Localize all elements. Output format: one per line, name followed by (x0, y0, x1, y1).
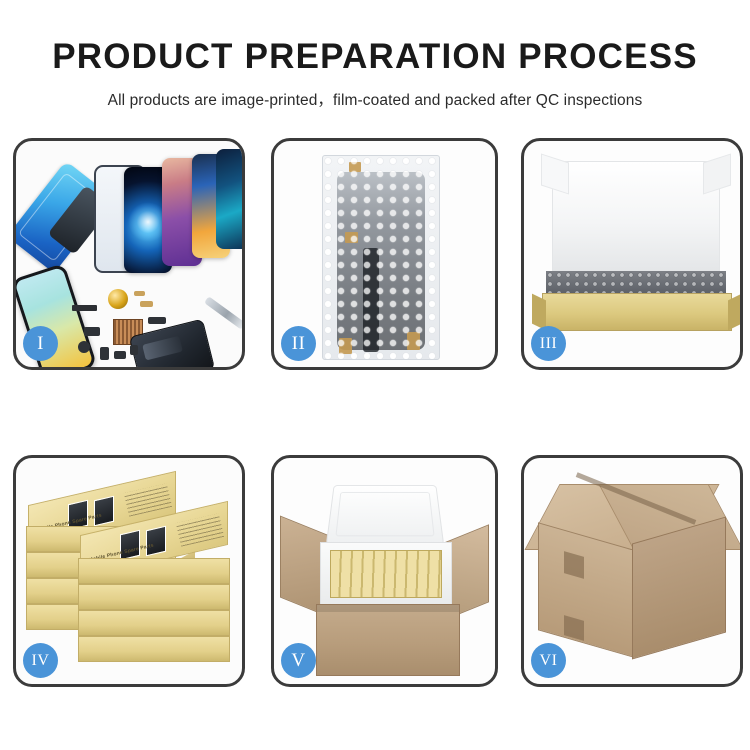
screen-graphic-icon (146, 526, 166, 557)
page-subtitle: All products are image-printed，film-coat… (0, 88, 750, 110)
screwdriver-icon (204, 296, 242, 330)
white-foam-lid-icon (552, 161, 720, 273)
small-part-icon (140, 301, 153, 307)
small-part-icon (84, 327, 100, 336)
step-panel-5[interactable]: V (271, 455, 498, 687)
step-badge-3: III (531, 326, 566, 361)
step-badge-2: II (281, 326, 316, 361)
process-row-2: Mobile Phone Spare Parts Mobile Phone Sp… (0, 455, 750, 687)
list-item (78, 610, 230, 636)
header: PRODUCT PREPARATION PROCESS All products… (0, 38, 750, 110)
process-grid: I II (0, 138, 750, 687)
step-panel-4[interactable]: Mobile Phone Spare Parts Mobile Phone Sp… (13, 455, 245, 687)
foam-insert-lid-icon (326, 485, 444, 545)
small-part-icon (100, 347, 109, 360)
product-preparation-infographic: PRODUCT PREPARATION PROCESS All products… (0, 0, 750, 750)
step-panel-2[interactable]: II (271, 138, 498, 370)
small-part-icon (114, 351, 126, 359)
open-carton-icon (316, 604, 460, 676)
step-badge-4: IV (23, 643, 58, 678)
step-badge-1: I (23, 326, 58, 361)
bubble-wrap-layer-icon (546, 271, 726, 295)
screen-graphic-icon (120, 530, 140, 561)
list-item (78, 636, 230, 662)
speaker-bar-icon (72, 305, 97, 311)
small-part-icon (148, 317, 166, 324)
process-row-1: I II (0, 138, 750, 370)
list-item (78, 558, 230, 584)
step-badge-5: V (281, 643, 316, 678)
page-title: PRODUCT PREPARATION PROCESS (0, 38, 750, 77)
bubble-wrap-bag-icon (322, 155, 440, 360)
step-panel-1[interactable]: I (13, 138, 245, 370)
list-item (78, 584, 230, 610)
kraft-tray-icon (542, 293, 732, 331)
step-panel-6[interactable]: VI (521, 455, 743, 687)
screen-graphic-icon (94, 496, 114, 527)
step-panel-3[interactable]: III (521, 138, 743, 370)
teal-gradient-phone-icon (216, 149, 242, 249)
small-part-icon (134, 291, 145, 296)
yellow-boxes-icon (330, 550, 442, 598)
step-badge-6: VI (531, 643, 566, 678)
bubble-texture-overlay (323, 156, 439, 359)
camera-lens-icon (108, 289, 128, 309)
yellow-box-stack-icon: Mobile Phone Spare Parts Mobile Phone Sp… (22, 474, 242, 674)
small-part-icon (78, 341, 90, 353)
small-part-icon (130, 345, 138, 355)
